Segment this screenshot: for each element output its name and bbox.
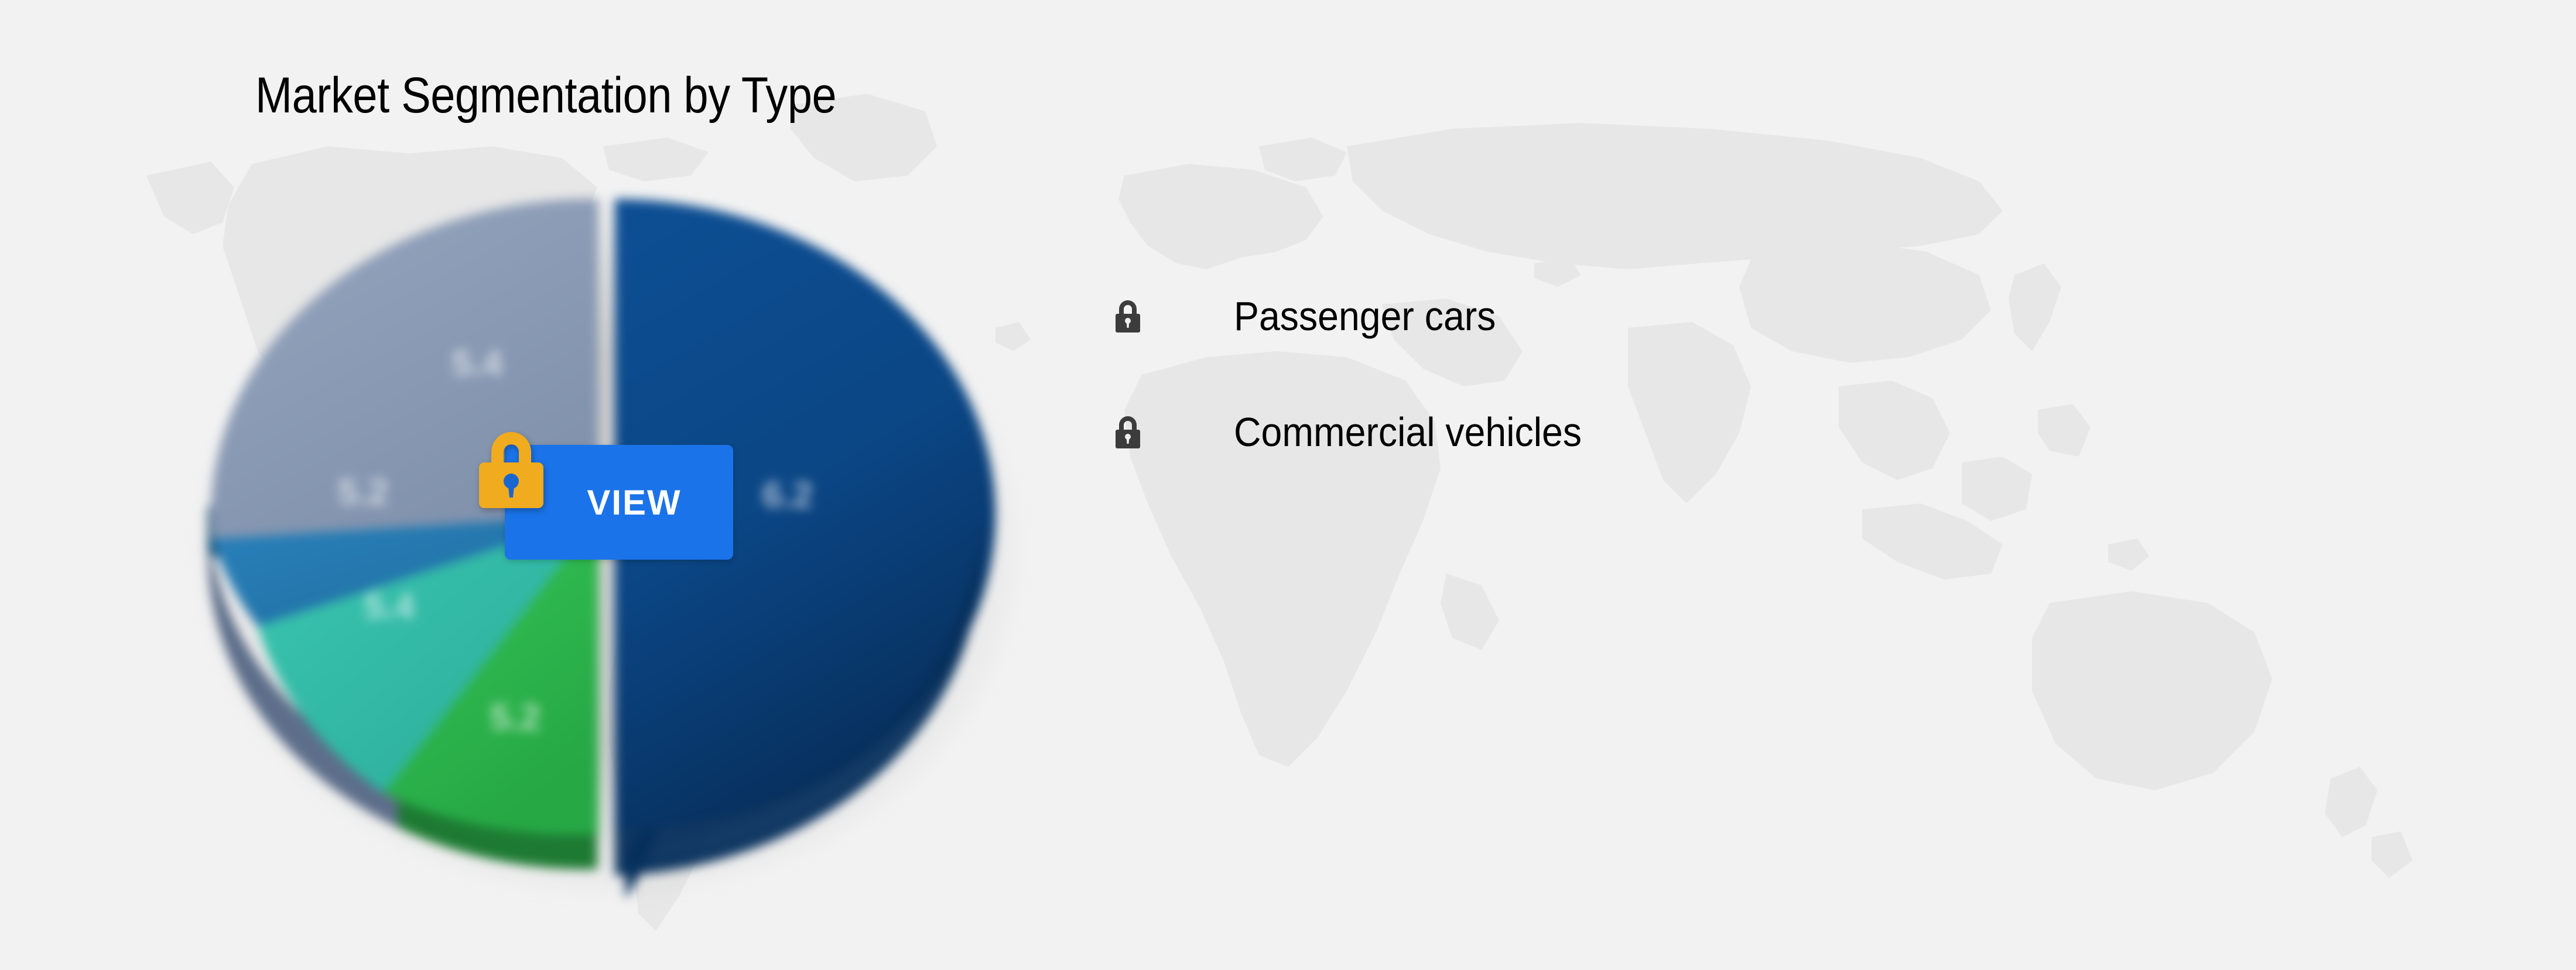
pie-label-3: 5.4	[364, 586, 415, 626]
legend-item-label: Passenger cars	[1234, 293, 1496, 340]
chart-legend: Passenger cars Commercial vehicles	[1113, 288, 1612, 460]
pie-label-1: 5.4	[452, 343, 503, 383]
lock-icon	[475, 425, 547, 510]
pie-label-0: 6.2	[762, 475, 813, 515]
lock-icon	[1113, 298, 1143, 334]
legend-item-label: Commercial vehicles	[1234, 409, 1582, 455]
legend-item-commercial-vehicles[interactable]: Commercial vehicles	[1113, 404, 1612, 460]
page-title: Market Segmentation by Type	[255, 69, 836, 122]
lock-icon	[1113, 414, 1143, 450]
pie-label-2: 5.2	[338, 472, 388, 512]
legend-item-passenger-cars[interactable]: Passenger cars	[1113, 288, 1612, 344]
pie-label-4: 5.2	[490, 697, 540, 738]
slide-canvas: Market Segmentation by Type	[0, 0, 2576, 970]
view-button-label: VIEW	[556, 482, 681, 523]
